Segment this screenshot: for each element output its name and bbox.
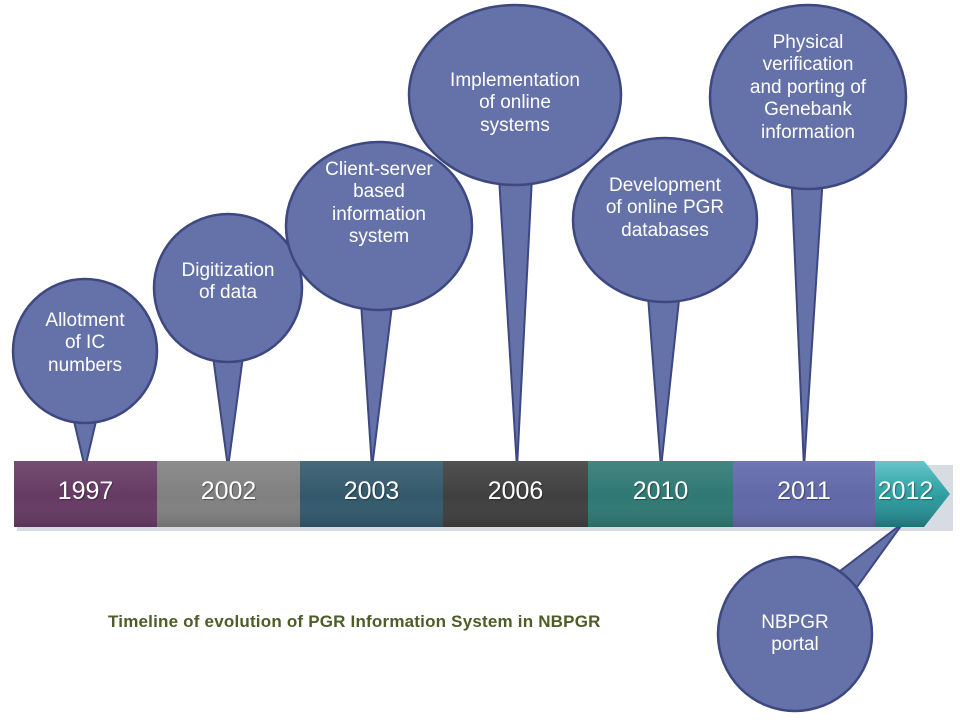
segment-shading: [300, 461, 443, 527]
callout-bubble-allotment-of-ic-numbers[interactable]: [13, 279, 157, 423]
callout-tail-physical-verification-and-porting-of-genebank-information: [790, 154, 824, 468]
segment-shading: [14, 461, 157, 527]
callout-bubble-development-of-online-pgr-databases[interactable]: [573, 138, 757, 302]
segment-shading: [157, 461, 300, 527]
timeline-diagram: 1997200220032006201020112012 Allotment o…: [0, 0, 960, 720]
callout-bubble-client-server-based-information-system[interactable]: [286, 142, 472, 310]
callout-bubble-nbpgr-portal[interactable]: [718, 557, 872, 711]
callout-bubble-physical-verification-and-porting-of-genebank-information[interactable]: [710, 5, 906, 189]
diagram-caption: Timeline of evolution of PGR Information…: [108, 612, 668, 632]
timeline-segments[interactable]: [14, 461, 950, 527]
segment-shading: [733, 461, 875, 527]
callout-tails: [68, 151, 903, 611]
segment-shading: [443, 461, 588, 527]
callout-bubble-digitization-of-data[interactable]: [154, 214, 302, 362]
callout-tail-implementation-of-online-systems: [497, 151, 533, 468]
callout-bubbles[interactable]: [13, 5, 906, 711]
callout-bubble-implementation-of-online-systems[interactable]: [409, 5, 621, 185]
segment-shading: [588, 461, 733, 527]
